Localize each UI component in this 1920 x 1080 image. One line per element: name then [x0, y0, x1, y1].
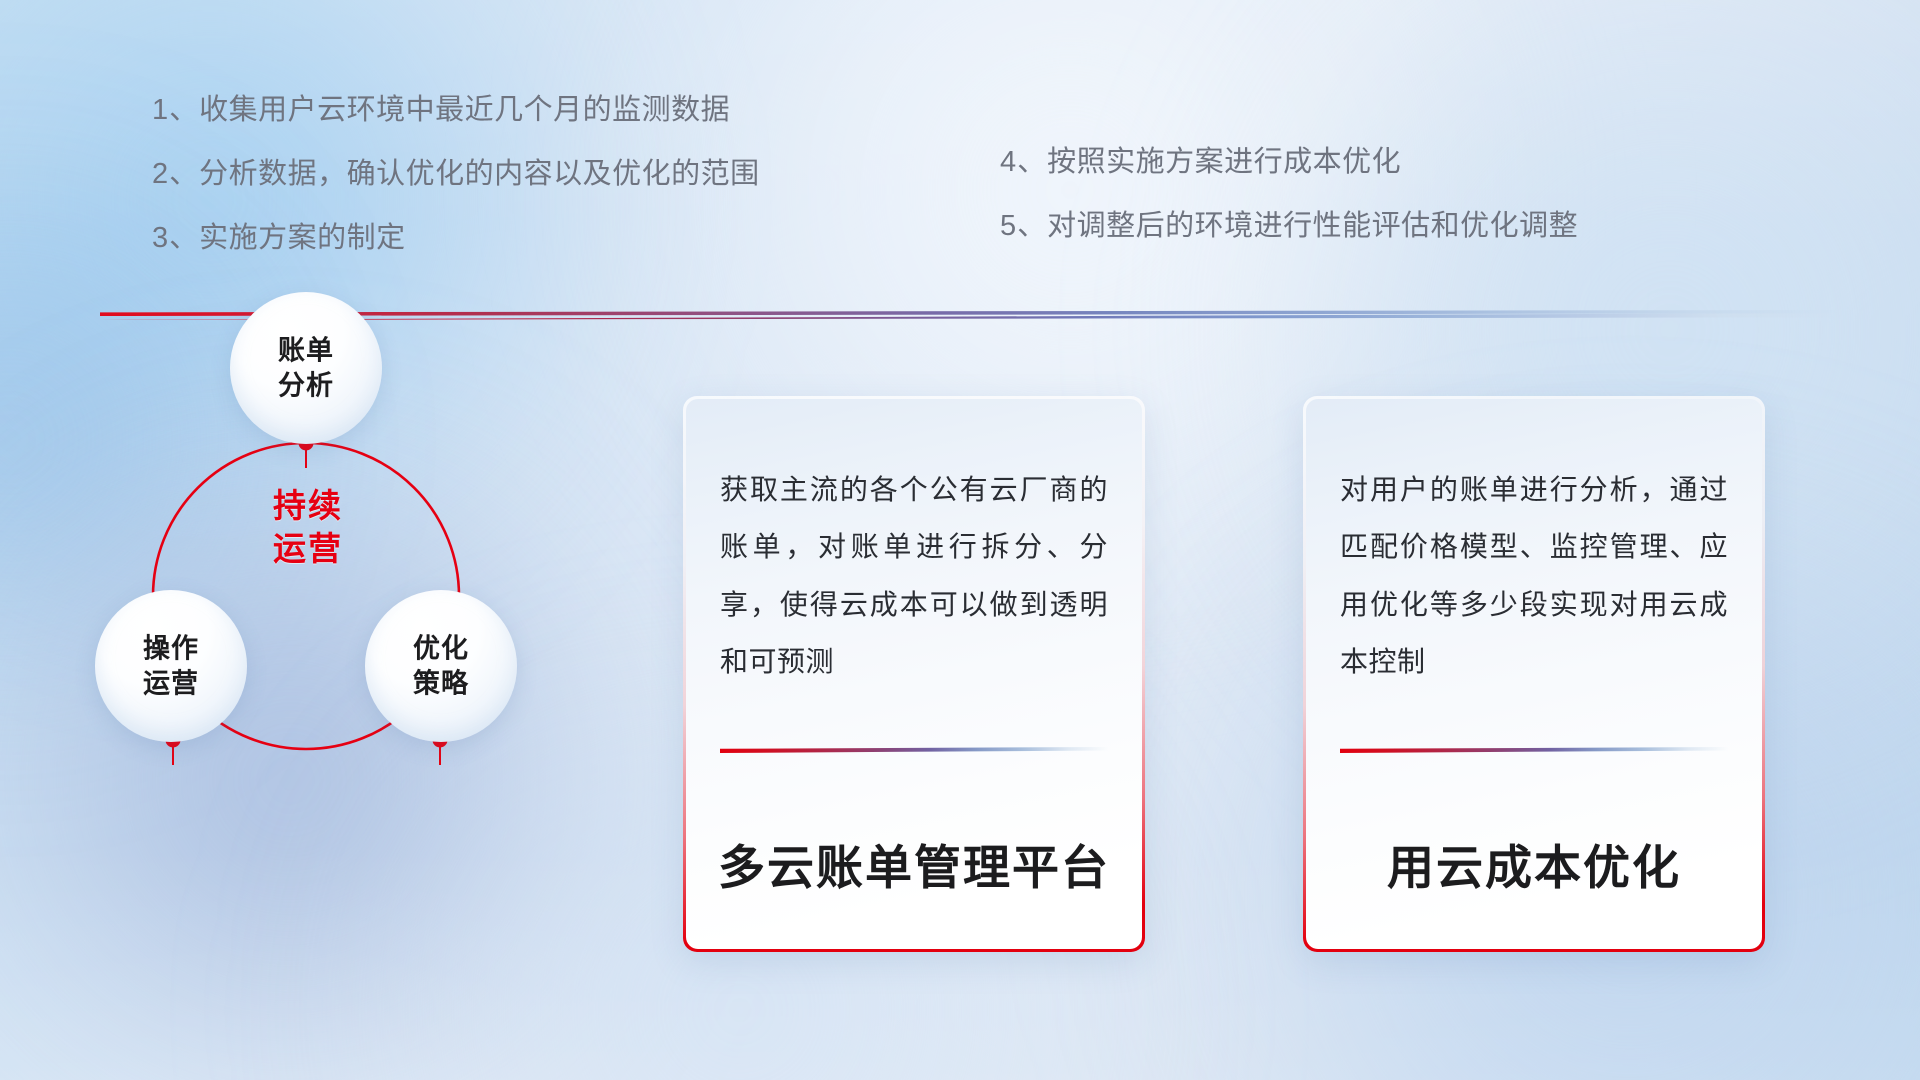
card-title: 用云成本优化 — [1306, 829, 1762, 898]
step-number-2: 2、 — [152, 158, 199, 190]
bubble-label-line1: 操作 — [143, 633, 199, 663]
bubble-label-line2: 策略 — [413, 668, 469, 698]
step-list-right: 4、按照实施方案进行成本优化 5、对调整后的环境进行性能评估和优化调整 — [1000, 148, 1578, 276]
card-multi-cloud-billing[interactable]: 获取主流的各个公有云厂商的账单，对账单进行拆分、分享，使得云成本可以做到透明和可… — [683, 396, 1145, 952]
step-item-5: 5、对调整后的环境进行性能评估和优化调整 — [1000, 212, 1578, 241]
card-title: 多云账单管理平台 — [686, 829, 1142, 898]
step-text-5: 对调整后的环境进行性能评估和优化调整 — [1047, 210, 1578, 242]
card-inner: 获取主流的各个公有云厂商的账单，对账单进行拆分、分享，使得云成本可以做到透明和可… — [686, 399, 1142, 949]
bubble-billing-analysis-label: 账单 分析 — [230, 333, 382, 402]
step-text-2: 分析数据，确认优化的内容以及优化的范围 — [199, 158, 760, 190]
bubble-operations-label: 操作 运营 — [95, 631, 247, 700]
card-body-text: 获取主流的各个公有云厂商的账单，对账单进行拆分、分享，使得云成本可以做到透明和可… — [720, 461, 1108, 691]
diagram-center-label: 持续 运营 — [213, 485, 403, 571]
bubble-billing-analysis[interactable]: 账单 分析 — [230, 292, 382, 444]
step-text-1: 收集用户云环境中最近几个月的监测数据 — [199, 94, 730, 126]
bubble-label-line1: 优化 — [413, 633, 469, 663]
step-list-left: 1、收集用户云环境中最近几个月的监测数据 2、分析数据，确认优化的内容以及优化的… — [152, 96, 760, 288]
continuous-operation-diagram: 账单 分析 操作 运营 优化 策略 持续 运营 — [95, 350, 635, 950]
bubble-operations[interactable]: 操作 运营 — [95, 590, 247, 742]
center-label-line2: 运营 — [273, 530, 343, 567]
step-number-5: 5、 — [1000, 210, 1047, 242]
card-divider — [1340, 747, 1728, 753]
bubble-label-line2: 运营 — [143, 668, 199, 698]
step-item-4: 4、按照实施方案进行成本优化 — [1000, 148, 1578, 177]
step-text-3: 实施方案的制定 — [199, 222, 406, 254]
step-number-1: 1、 — [152, 94, 199, 126]
step-item-3: 3、实施方案的制定 — [152, 224, 760, 253]
card-body-text: 对用户的账单进行分析，通过匹配价格模型、监控管理、应用优化等多少段实现对用云成本… — [1340, 461, 1728, 691]
card-divider — [720, 747, 1108, 753]
step-item-1: 1、收集用户云环境中最近几个月的监测数据 — [152, 96, 760, 125]
step-item-2: 2、分析数据，确认优化的内容以及优化的范围 — [152, 160, 760, 189]
bubble-optimization-strategy[interactable]: 优化 策略 — [365, 590, 517, 742]
bubble-optimization-strategy-label: 优化 策略 — [365, 631, 517, 700]
step-number-4: 4、 — [1000, 146, 1047, 178]
bubble-label-line1: 账单 — [278, 335, 334, 365]
step-number-3: 3、 — [152, 222, 199, 254]
card-cloud-cost-optimization[interactable]: 对用户的账单进行分析，通过匹配价格模型、监控管理、应用优化等多少段实现对用云成本… — [1303, 396, 1765, 952]
center-label-line1: 持续 — [273, 487, 343, 524]
card-inner: 对用户的账单进行分析，通过匹配价格模型、监控管理、应用优化等多少段实现对用云成本… — [1306, 399, 1762, 949]
bubble-label-line2: 分析 — [278, 370, 334, 400]
step-text-4: 按照实施方案进行成本优化 — [1047, 146, 1401, 178]
